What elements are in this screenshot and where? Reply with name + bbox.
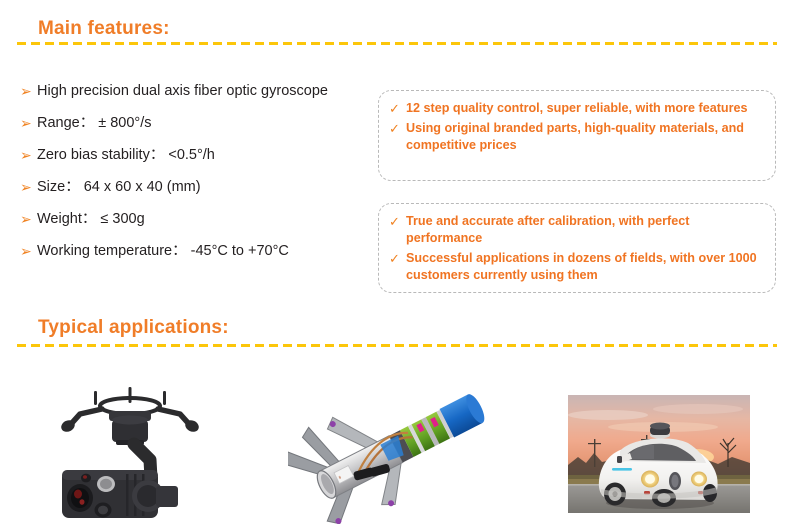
- arrow-bullet-icon: ➢: [20, 210, 37, 229]
- feature-label: Working temperature： -45°C to +70°C: [37, 242, 289, 261]
- list-item: ✓ True and accurate after calibration, w…: [389, 213, 763, 247]
- arrow-bullet-icon: ➢: [20, 146, 37, 165]
- feature-label: Range： ± 800°/s: [37, 114, 152, 133]
- callout-label: True and accurate after calibration, wit…: [406, 213, 763, 247]
- arrow-bullet-icon: ➢: [20, 178, 37, 197]
- list-item: ➢ Weight： ≤ 300g: [20, 210, 380, 229]
- missile-cutaway-image: 6: [288, 376, 496, 524]
- list-item: ✓ Using original branded parts, high-qua…: [389, 120, 763, 154]
- arrow-bullet-icon: ➢: [20, 114, 37, 133]
- check-icon: ✓: [389, 213, 406, 230]
- divider-typical-applications: [17, 344, 777, 347]
- arrow-bullet-icon: ➢: [20, 242, 37, 261]
- list-item: ➢ Zero bias stability： <0.5°/h: [20, 146, 380, 165]
- callout-label: Successful applications in dozens of fie…: [406, 250, 763, 284]
- list-item: ✓ Successful applications in dozens of f…: [389, 250, 763, 284]
- divider-main-features: [17, 42, 777, 45]
- callout-label: 12 step quality control, super reliable,…: [406, 100, 748, 117]
- list-item: ➢ High precision dual axis fiber optic g…: [20, 82, 380, 101]
- list-item: ➢ Size： 64 x 60 x 40 (mm): [20, 178, 380, 197]
- check-icon: ✓: [389, 120, 406, 137]
- self-driving-car-image: [568, 395, 750, 513]
- feature-label: Zero bias stability： <0.5°/h: [37, 146, 215, 165]
- callout-label: Using original branded parts, high-quali…: [406, 120, 763, 154]
- feature-label: Weight： ≤ 300g: [37, 210, 145, 229]
- slide-page: Main features: ➢ High precision dual axi…: [0, 0, 795, 531]
- feature-label: Size： 64 x 60 x 40 (mm): [37, 178, 201, 197]
- list-item: ✓ 12 step quality control, super reliabl…: [389, 100, 763, 117]
- list-item: ➢ Range： ± 800°/s: [20, 114, 380, 133]
- feature-label: High precision dual axis fiber optic gyr…: [37, 82, 328, 101]
- page-title-typical-applications: Typical applications:: [38, 317, 229, 339]
- feature-list: ➢ High precision dual axis fiber optic g…: [20, 82, 380, 274]
- check-icon: ✓: [389, 250, 406, 267]
- check-icon: ✓: [389, 100, 406, 117]
- list-item: ➢ Working temperature： -45°C to +70°C: [20, 242, 380, 261]
- gimbal-camera-image: [30, 378, 230, 528]
- arrow-bullet-icon: ➢: [20, 82, 37, 101]
- callout-box-accuracy: ✓ True and accurate after calibration, w…: [378, 203, 776, 293]
- callout-box-quality: ✓ 12 step quality control, super reliabl…: [378, 90, 776, 181]
- page-title-main-features: Main features:: [38, 18, 170, 40]
